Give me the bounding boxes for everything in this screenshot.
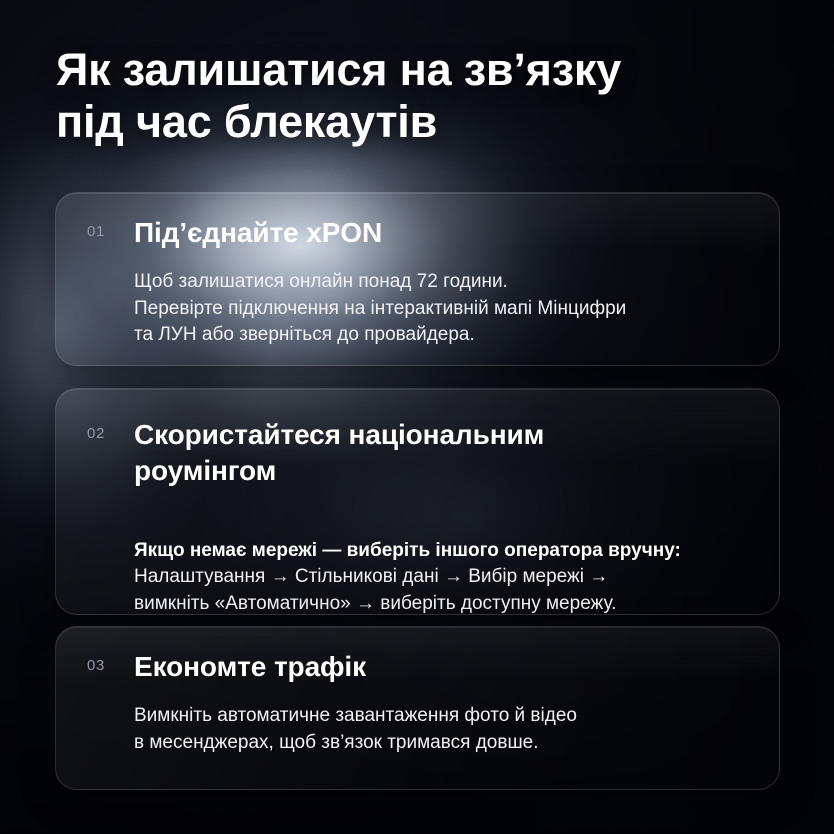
page-title: Як залишатися на зв’язку під час блекаут… [56, 44, 756, 148]
tip-card-01: 01 Під’єднайте xPON Щоб залишатися онлай… [55, 192, 780, 366]
tip-card-03-body: Економте трафік Вимкніть автоматичне зав… [134, 649, 755, 756]
tip-card-03: 03 Економте трафік Вимкніть автоматичне … [55, 626, 780, 790]
tip-card-03-heading: Економте трафік [134, 649, 755, 685]
tip-card-02: 02 Скористайтеся національним роумінгом … [55, 388, 780, 615]
tip-card-02-heading: Скористайтеся національним роумінгом [134, 417, 755, 489]
tip-card-03-text: Вимкніть автоматичне завантаження фото й… [134, 703, 755, 756]
tip-card-02-text: Налаштування → Стільникові дані → Вибір … [134, 566, 616, 614]
tip-card-02-lead: Якщо немає мережі — виберіть іншого опер… [134, 538, 755, 565]
tip-card-02-body: Скористайтеся національним роумінгом Якщ… [134, 417, 755, 617]
tip-card-01-body: Під’єднайте xPON Щоб залишатися онлайн п… [134, 215, 755, 349]
tip-card-01-number: 01 [87, 223, 105, 240]
poster-content: Як залишатися на зв’язку під час блекаут… [0, 0, 834, 834]
tip-card-02-text-block: Якщо немає мережі — виберіть іншого опер… [134, 511, 755, 617]
poster-root: Як залишатися на зв’язку під час блекаут… [0, 0, 834, 834]
tip-card-02-number: 02 [87, 425, 105, 442]
tip-card-01-heading: Під’єднайте xPON [134, 215, 755, 251]
tip-card-01-text: Щоб залишатися онлайн понад 72 години. П… [134, 269, 755, 349]
tip-card-03-number: 03 [87, 657, 105, 674]
